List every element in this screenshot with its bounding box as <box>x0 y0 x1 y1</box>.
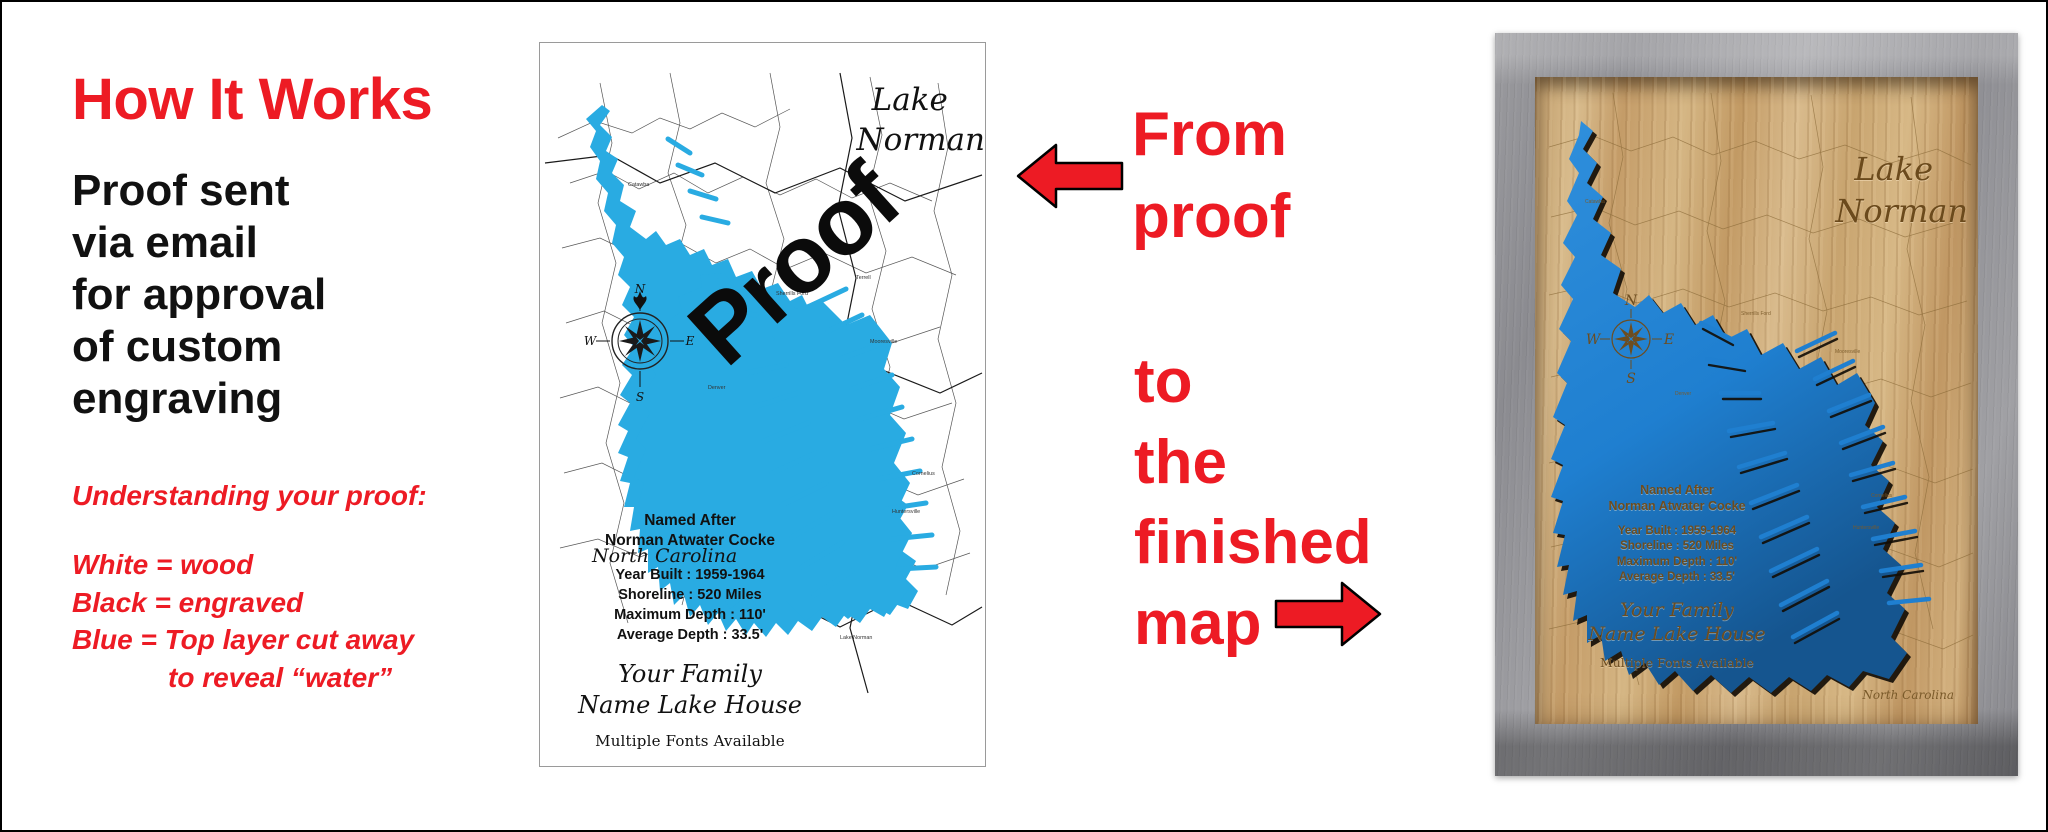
legend-heading: Understanding your proof: <box>72 480 552 512</box>
proof-fonts-note: Multiple Fonts Available <box>540 732 840 750</box>
legend-item-white: White = wood <box>72 546 552 584</box>
svg-text:S: S <box>636 390 644 404</box>
body-line-1: Proof sent <box>72 165 552 217</box>
proof-stat-shoreline: Shoreline : 520 Miles <box>540 585 840 605</box>
svg-text:Catawba: Catawba <box>628 182 649 188</box>
proof-stat-avg-depth: Average Depth : 33.5' <box>540 625 840 645</box>
svg-text:Cornelius: Cornelius <box>912 471 935 477</box>
wood-stat-avg-depth: Average Depth : 33.5' <box>1559 570 1795 585</box>
proof-named-after-value: Norman Atwater Cocke <box>540 531 840 551</box>
poster-canvas: How It Works Proof sent via email for ap… <box>0 0 2048 832</box>
legend-item-black: Black = engraved <box>72 584 552 622</box>
framed-finished-map[interactable]: Catawba Sherrills Ford Denver Mooresvill… <box>1495 33 2018 776</box>
body-line-2: via email <box>72 217 552 269</box>
legend-item-blue-cont: to reveal “water” <box>72 659 552 697</box>
body-line-5: engraving <box>72 373 552 425</box>
wood-stat-shoreline: Shoreline : 520 Miles <box>1559 539 1795 554</box>
svg-text:E: E <box>685 334 695 348</box>
body-line-3: for approval <box>72 269 552 321</box>
wood-script-line2: Name Lake House <box>1559 622 1795 647</box>
proof-stats: Year Built : 1959-1964 Shoreline : 520 M… <box>540 565 840 645</box>
page-title: How It Works <box>72 70 552 131</box>
arrow-right-icon <box>1274 578 1382 650</box>
wood-script-name: Your Family Name Lake House <box>1559 598 1795 647</box>
proof-named-after: Named After Norman Atwater Cocke <box>540 511 840 552</box>
svg-text:Lake Norman: Lake Norman <box>840 635 872 641</box>
wood-state-label: North Carolina <box>1862 688 1954 702</box>
svg-text:Sherrills Ford: Sherrills Ford <box>776 291 808 297</box>
wood-stat-year: Year Built : 1959-1964 <box>1559 524 1795 539</box>
wood-stat-max-depth: Maximum Depth : 110' <box>1559 555 1795 570</box>
svg-text:Cornelius: Cornelius <box>1871 493 1893 499</box>
svg-text:Catawba: Catawba <box>1585 199 1605 205</box>
wood-named-after: Named After Norman Atwater Cocke <box>1559 482 1795 515</box>
callout-to-line2: the <box>1134 423 1372 504</box>
wood-panel: Catawba Sherrills Ford Denver Mooresvill… <box>1535 77 1978 724</box>
proof-script-line1: Your Family <box>540 659 840 691</box>
svg-text:Huntersville: Huntersville <box>892 509 920 515</box>
how-it-works-body: Proof sent via email for approval of cus… <box>72 165 552 425</box>
arrow-left-icon <box>1016 137 1124 215</box>
proof-stat-year: Year Built : 1959-1964 <box>540 565 840 585</box>
svg-text:W: W <box>584 334 598 348</box>
legend-list: White = wood Black = engraved Blue = Top… <box>72 546 552 696</box>
svg-text:Terrell: Terrell <box>856 275 871 281</box>
wood-named-after-label: Named After <box>1559 482 1795 498</box>
body-line-4: of custom <box>72 321 552 373</box>
legend-item-blue: Blue = Top layer cut away <box>72 621 552 659</box>
proof-stat-max-depth: Maximum Depth : 110' <box>540 605 840 625</box>
wood-named-after-value: Norman Atwater Cocke <box>1559 498 1795 514</box>
svg-text:N: N <box>634 282 646 296</box>
wood-stats: Year Built : 1959-1964 Shoreline : 520 M… <box>1559 524 1795 586</box>
svg-text:Mooresville: Mooresville <box>870 339 897 345</box>
svg-text:Sherrills Ford: Sherrills Ford <box>1741 311 1771 317</box>
callout-to-line3: finished <box>1134 503 1372 584</box>
svg-text:Denver: Denver <box>1675 391 1691 397</box>
svg-text:Mooresville: Mooresville <box>1835 349 1861 355</box>
wood-fonts-note: Multiple Fonts Available <box>1559 655 1795 670</box>
proof-sheet[interactable]: N E S W Catawba Sherrills Ford Denver Mo… <box>539 42 986 767</box>
wood-info-block: Named After Norman Atwater Cocke Year Bu… <box>1559 482 1795 671</box>
callout-to-line1: to <box>1134 342 1372 423</box>
left-text-panel: How It Works Proof sent via email for ap… <box>72 70 552 696</box>
callout-from-line2: proof <box>1132 176 1290 258</box>
proof-script-name: Your Family Name Lake House <box>540 659 840 722</box>
proof-info-block: Named After Norman Atwater Cocke Year Bu… <box>540 511 840 750</box>
callout-from-proof: From proof <box>1132 94 1290 258</box>
wood-script-line1: Your Family <box>1559 598 1795 623</box>
proof-named-after-label: Named After <box>540 511 840 531</box>
callout-to-line4: map <box>1134 584 1261 665</box>
proof-script-line2: Name Lake House <box>540 690 840 722</box>
callout-from-line1: From <box>1132 94 1290 176</box>
svg-text:Denver: Denver <box>708 385 726 391</box>
svg-text:Huntersville: Huntersville <box>1853 525 1879 531</box>
